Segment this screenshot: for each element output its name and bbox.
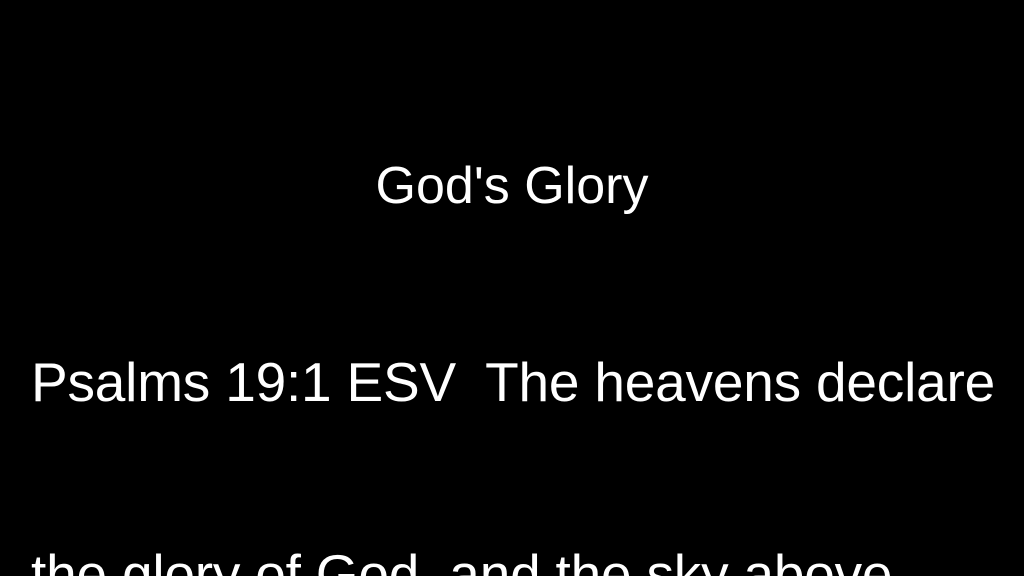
verse-line: the glory of God, and the sky above: [31, 542, 993, 576]
slide-title: God's Glory: [0, 155, 1024, 217]
slide-text-block: God's Glory Psalms 19:1 ESV The heavens …: [0, 0, 1024, 576]
verse-line: Psalms 19:1 ESV The heavens declare: [31, 350, 993, 414]
presentation-slide: God's Glory Psalms 19:1 ESV The heavens …: [0, 0, 1024, 576]
scripture-verse-text: Psalms 19:1 ESV The heavens declare the …: [31, 222, 993, 576]
